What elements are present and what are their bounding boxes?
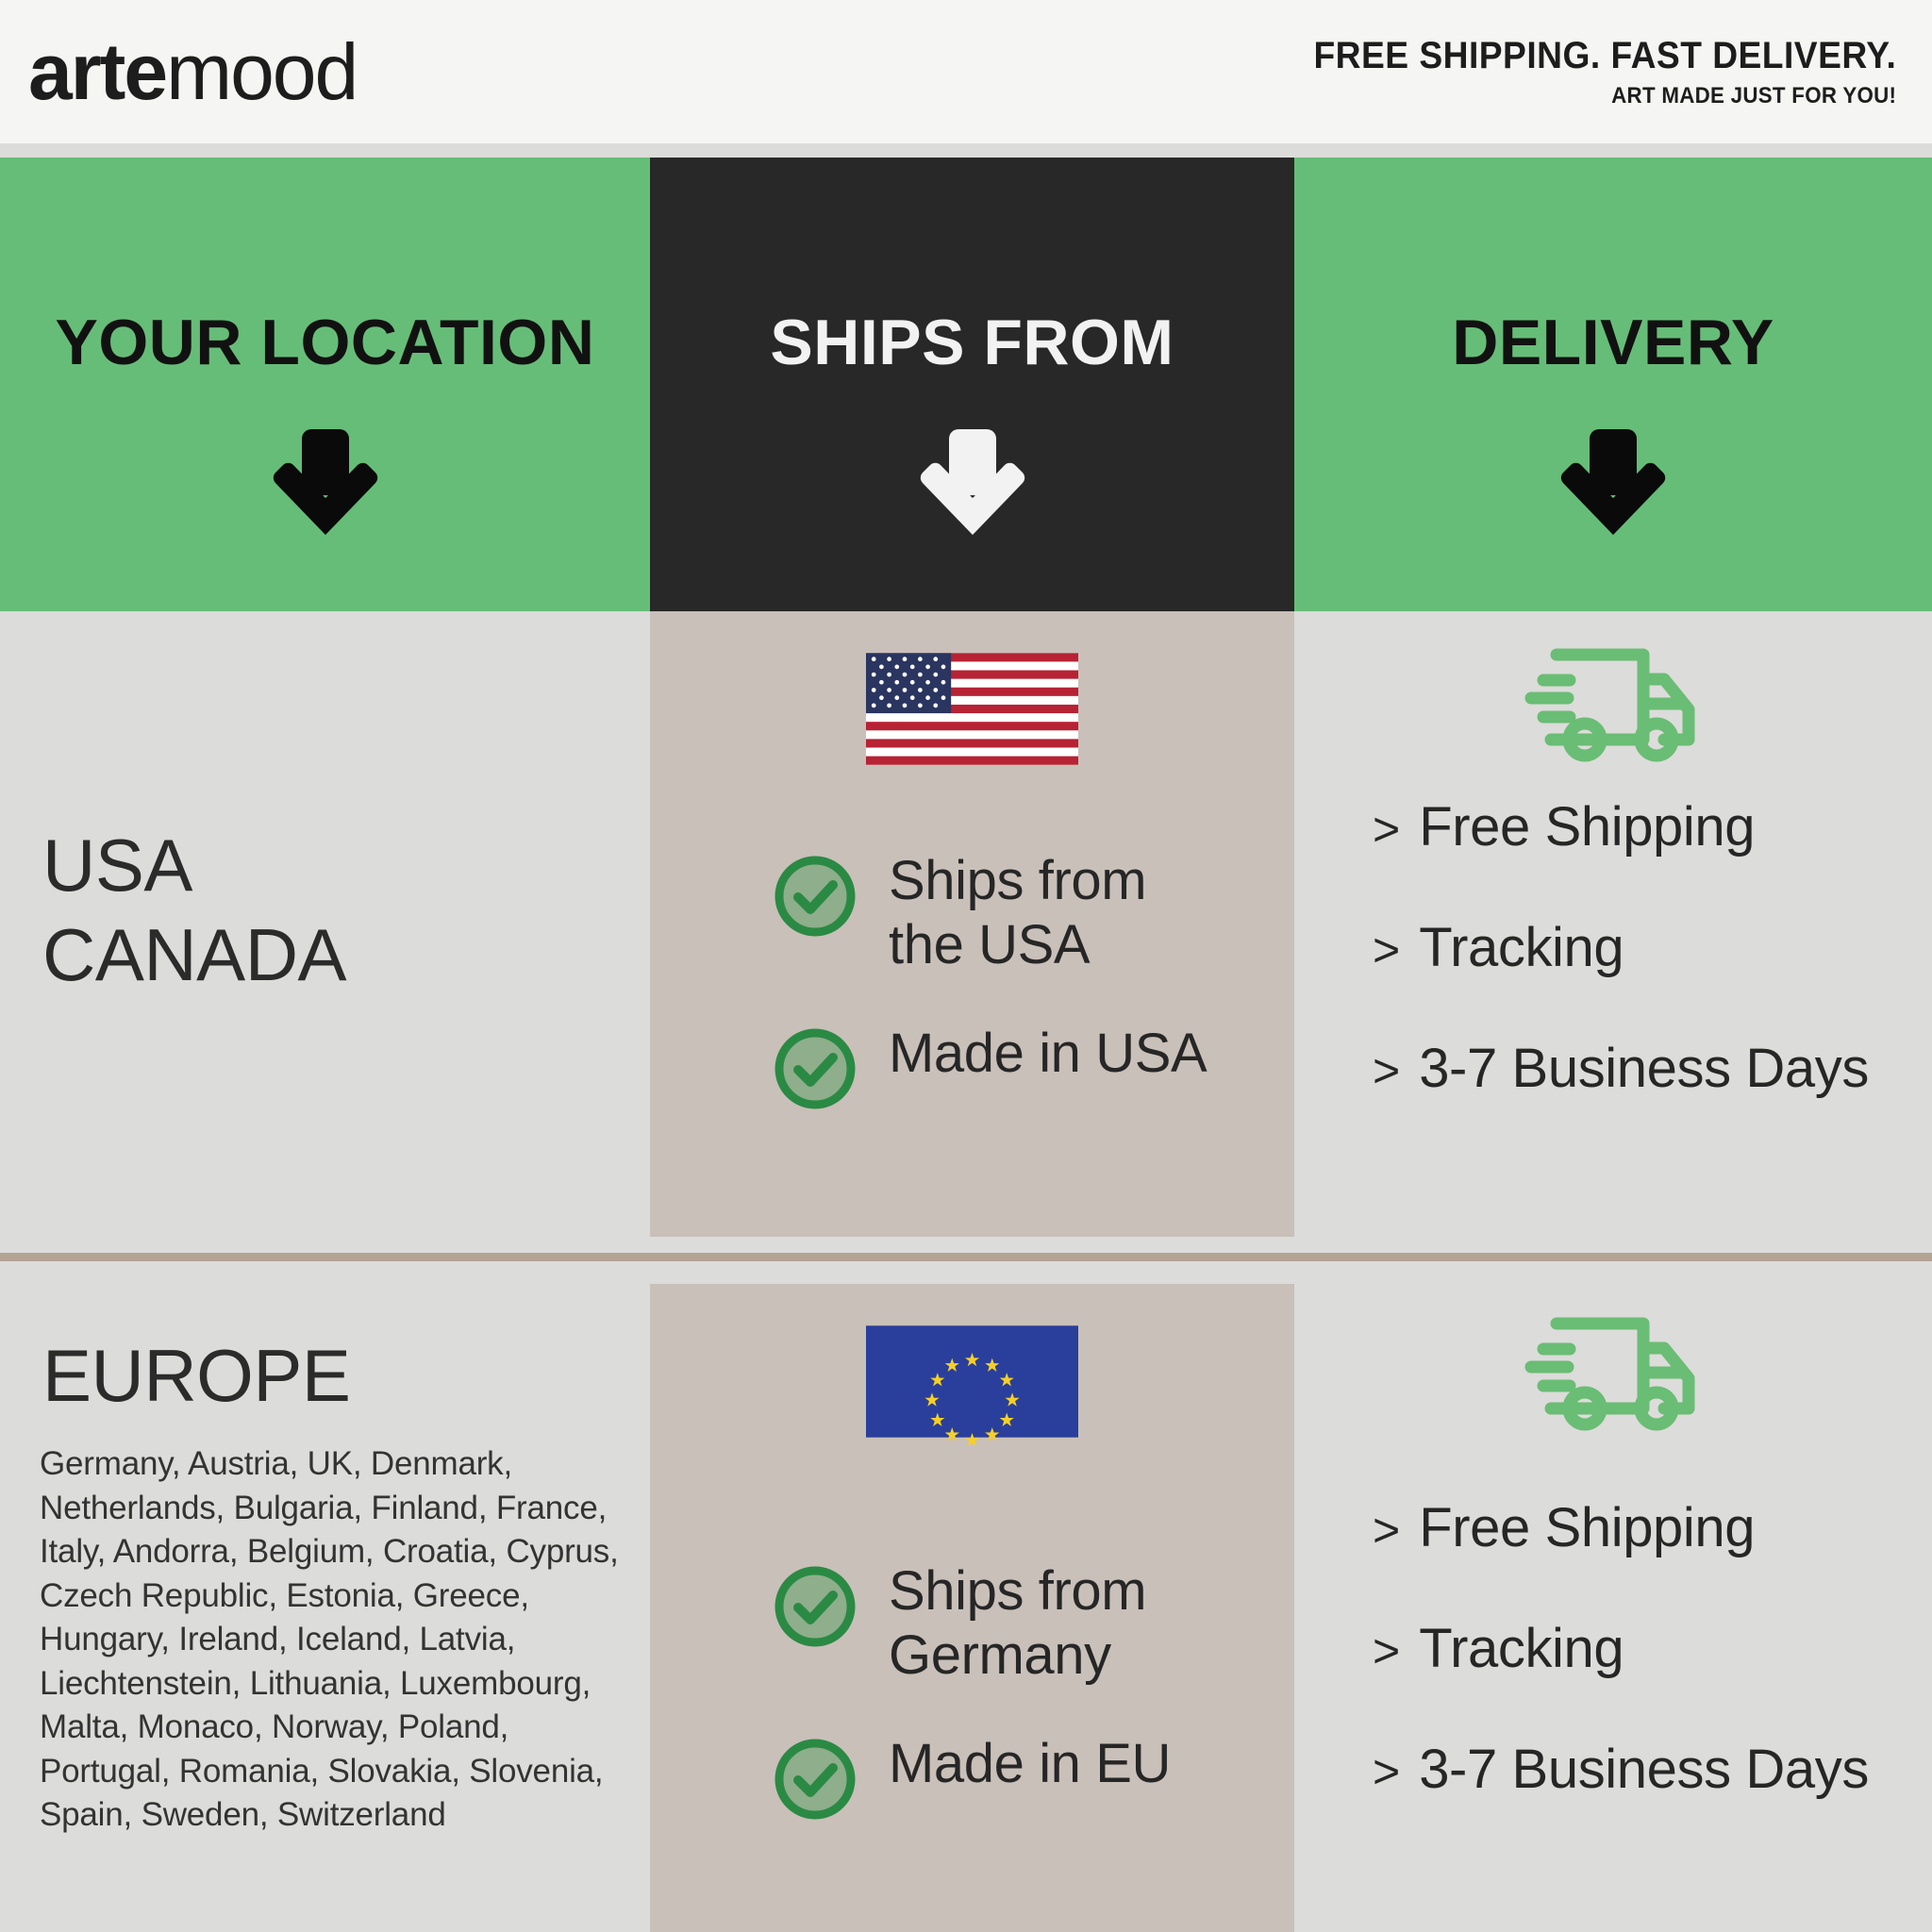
- chevron-right-icon: >: [1373, 1047, 1400, 1094]
- checklist-label: Made in USA: [889, 1022, 1207, 1086]
- chevron-right-icon: >: [1373, 926, 1400, 974]
- column-header-label: DELIVERY: [1452, 310, 1774, 375]
- row-divider: [0, 1253, 1932, 1261]
- check-circle-icon: [772, 1025, 858, 1117]
- checklist-item: Ships from Germany: [772, 1559, 1171, 1689]
- delivery-benefit-item: > Tracking: [1373, 1622, 1869, 1676]
- europe-country-list: Germany, Austria, UK, Denmark, Netherlan…: [40, 1442, 629, 1838]
- checklist-item: Made in USA: [772, 1022, 1207, 1117]
- chevron-right-icon: >: [1373, 1627, 1400, 1674]
- delivery-benefit-item: > Free Shipping: [1373, 800, 1869, 855]
- delivery-truck-icon: [1523, 1310, 1704, 1440]
- tagline-sub: ART MADE JUST FOR YOU!: [1313, 84, 1896, 108]
- tagline-block: FREE SHIPPING. FAST DELIVERY. ART MADE J…: [1270, 36, 1896, 108]
- delivery-benefit-label: Free Shipping: [1419, 1501, 1755, 1556]
- delivery-benefits-list: > Free Shipping > Tracking > 3-7 Busines…: [1373, 800, 1869, 1096]
- delivery-benefit-item: > Tracking: [1373, 921, 1869, 975]
- checklist-label: Made in EU: [889, 1732, 1171, 1796]
- column-header-ships-from: SHIPS FROM: [650, 158, 1294, 611]
- row-europe-delivery-cell: > Free Shipping > Tracking > 3-7 Busines…: [1294, 1284, 1932, 1932]
- delivery-truck-icon: [1523, 641, 1704, 771]
- location-name: USA CANADA: [42, 821, 346, 1000]
- us-flag-icon: [866, 645, 1078, 773]
- check-circle-icon: [772, 1563, 858, 1655]
- delivery-benefit-item: > Free Shipping: [1373, 1501, 1869, 1556]
- ships-from-checklist: Ships from the USA Made in USA: [772, 849, 1207, 1117]
- location-name: EUROPE: [42, 1331, 350, 1421]
- artemood-logo[interactable]: artemood: [28, 32, 357, 111]
- delivery-benefit-label: Tracking: [1419, 1622, 1624, 1676]
- delivery-benefit-label: Tracking: [1419, 921, 1624, 975]
- location-line: CANADA: [42, 910, 346, 1000]
- delivery-benefit-label: 3-7 Business Days: [1419, 1742, 1869, 1797]
- location-line: USA: [42, 821, 346, 910]
- checklist-item: Made in EU: [772, 1732, 1171, 1827]
- delivery-benefits-list: > Free Shipping > Tracking > 3-7 Busines…: [1373, 1501, 1869, 1797]
- delivery-benefit-label: 3-7 Business Days: [1419, 1041, 1869, 1096]
- check-circle-icon: [772, 1736, 858, 1827]
- delivery-benefit-item: > 3-7 Business Days: [1373, 1041, 1869, 1096]
- column-header-your-location: YOUR LOCATION: [0, 158, 650, 611]
- checklist-label: Ships from Germany: [889, 1559, 1146, 1689]
- delivery-benefit-label: Free Shipping: [1419, 800, 1755, 855]
- arrow-down-icon: [268, 424, 383, 545]
- row-europe-location-cell: EUROPE Germany, Austria, UK, Denmark, Ne…: [0, 1284, 650, 1932]
- brand-header: artemood FREE SHIPPING. FAST DELIVERY. A…: [0, 0, 1932, 143]
- delivery-benefit-item: > 3-7 Business Days: [1373, 1742, 1869, 1797]
- eu-flag-icon: [866, 1318, 1078, 1445]
- check-circle-icon: [772, 853, 858, 944]
- comparison-grid: YOUR LOCATION SHIPS FROM: [0, 158, 1932, 1932]
- logo-bold-part: arte: [28, 27, 166, 116]
- chevron-right-icon: >: [1373, 1748, 1400, 1795]
- tagline-main: FREE SHIPPING. FAST DELIVERY.: [1313, 36, 1896, 75]
- column-header-label: SHIPS FROM: [770, 310, 1174, 375]
- checklist-label: Ships from the USA: [889, 849, 1146, 978]
- column-header-delivery: DELIVERY: [1294, 158, 1932, 611]
- row-europe-ships-from-cell: Ships from Germany Made in EU: [650, 1284, 1294, 1932]
- header-separator-band: [0, 143, 1932, 158]
- logo-regular-part: mood: [166, 27, 357, 116]
- arrow-down-icon: [915, 424, 1030, 545]
- row-usa-ships-from-cell: Ships from the USA Made in USA: [650, 611, 1294, 1237]
- arrow-down-icon: [1556, 424, 1671, 545]
- checklist-item: Ships from the USA: [772, 849, 1207, 978]
- row-usa-delivery-cell: > Free Shipping > Tracking > 3-7 Busines…: [1294, 611, 1932, 1237]
- location-line: EUROPE: [42, 1331, 350, 1421]
- row-usa-location-cell: USA CANADA: [0, 611, 650, 1237]
- shipping-info-infographic: artemood FREE SHIPPING. FAST DELIVERY. A…: [0, 0, 1932, 1932]
- chevron-right-icon: >: [1373, 1507, 1400, 1554]
- ships-from-checklist: Ships from Germany Made in EU: [772, 1559, 1171, 1827]
- column-header-label: YOUR LOCATION: [56, 310, 595, 375]
- chevron-right-icon: >: [1373, 806, 1400, 853]
